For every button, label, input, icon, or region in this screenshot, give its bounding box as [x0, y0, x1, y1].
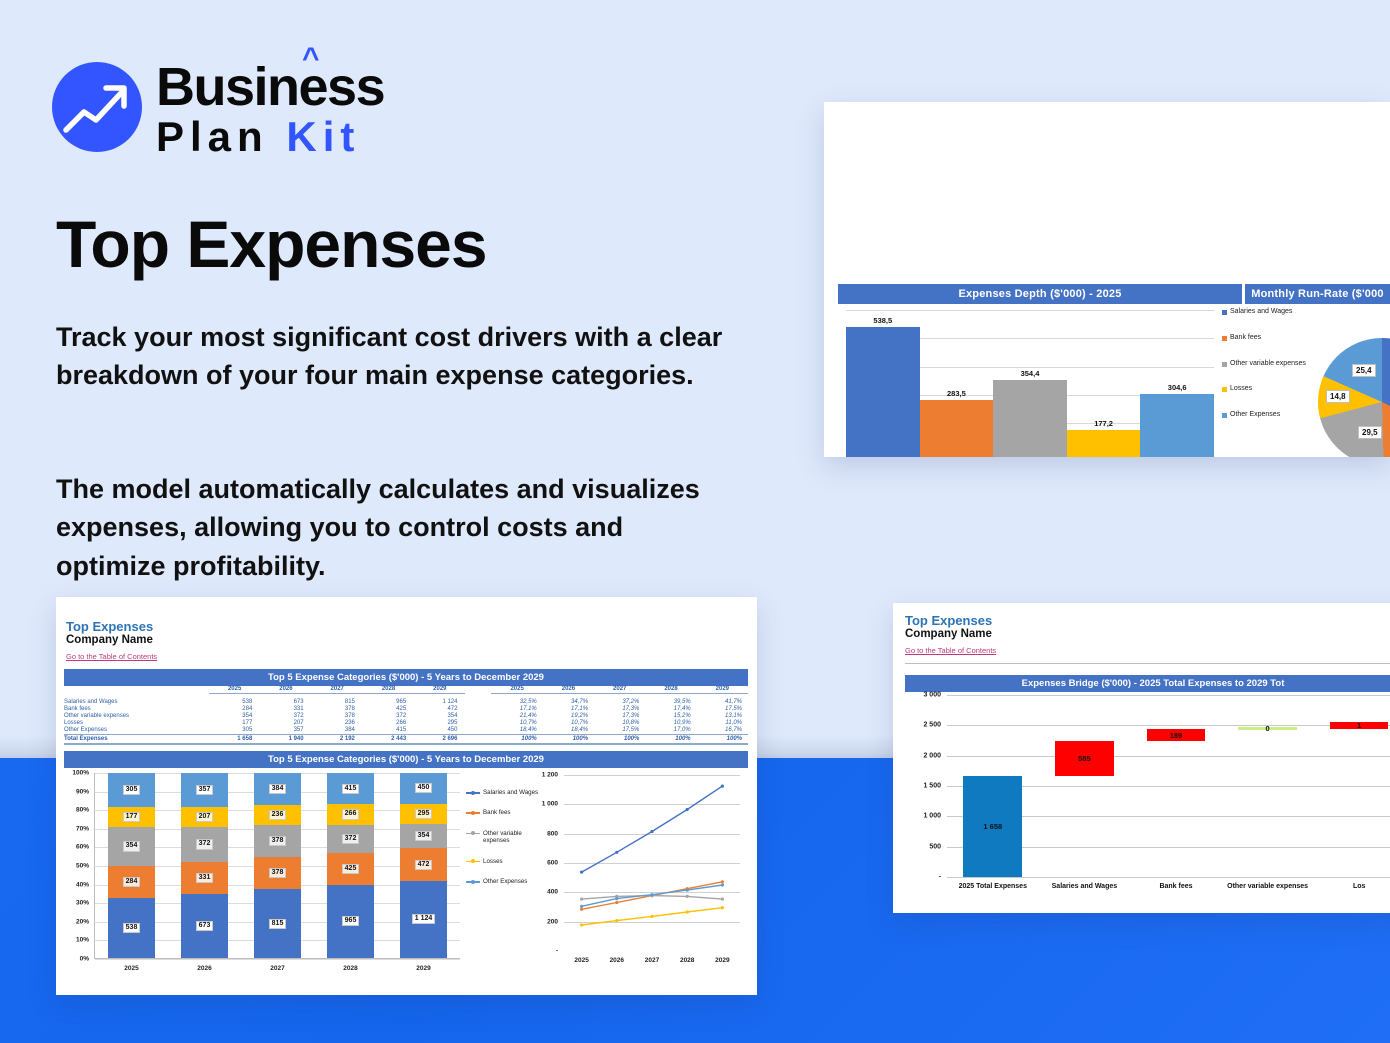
- bar-column: 354,4: [993, 380, 1067, 457]
- stack-segment-label: 425: [342, 864, 360, 874]
- line-point: [686, 895, 689, 898]
- table-cell-pct: 10,7%: [491, 720, 542, 727]
- x-axis-label: 2028: [680, 957, 694, 964]
- table-of-contents-link[interactable]: Go to the Table of Contents: [66, 652, 157, 661]
- table-cell-value: 1 124: [414, 698, 465, 705]
- worksheet-header-right: Top Expenses Company Name Go to the Tabl…: [905, 613, 996, 658]
- line-point: [650, 830, 653, 833]
- y-axis-label: 500: [929, 843, 941, 850]
- table-cell-pct: 21,4%: [491, 712, 542, 719]
- stack-segment: 354: [400, 824, 447, 848]
- y-axis-label: -: [556, 948, 558, 955]
- line-chart-plot: 20252026202720282029: [564, 775, 740, 951]
- table-cell-pct: 17,3%: [594, 712, 645, 719]
- legend-label: Losses: [483, 858, 503, 865]
- table-cell-pct: 10,8%: [594, 720, 645, 727]
- y-axis-label: 60%: [76, 844, 89, 851]
- line-series-group: [564, 775, 740, 951]
- x-axis-label: Other variable expenses: [1222, 883, 1314, 890]
- legend-item: Other variable expenses: [466, 830, 540, 845]
- y-axis-label: 1 500: [923, 783, 941, 790]
- legend-item: Bank fees: [1222, 334, 1312, 343]
- table-row: Salaries and Wages5386738159651 12432,5%…: [64, 698, 748, 705]
- table-cell-pct: 11,0%: [697, 720, 748, 727]
- line-point: [580, 871, 583, 874]
- table-header-row: 2025202620272028202920252026202720282029: [64, 685, 748, 693]
- table-cell-value: 295: [414, 720, 465, 727]
- stacked-chart-plot: 3051773542845382025357207372331673202638…: [94, 773, 460, 959]
- stack-segment-label: 1 124: [412, 914, 436, 924]
- table-cell-pct: 100%: [594, 735, 645, 744]
- y-axis-label: 100%: [72, 770, 89, 777]
- legend-item: Salaries and Wages: [466, 789, 540, 796]
- stacked-column: 4502953544721 1242029: [387, 773, 460, 958]
- y-axis-label: 400: [547, 889, 558, 896]
- line-point: [650, 893, 653, 896]
- bar: [1140, 394, 1214, 457]
- stack-segment-label: 372: [342, 834, 360, 844]
- y-axis-label: 1 000: [923, 813, 941, 820]
- y-axis-label: -: [939, 874, 941, 881]
- table-cell-value: 177: [209, 720, 260, 727]
- x-axis-label: 2027: [241, 965, 314, 972]
- line-point: [721, 898, 724, 901]
- stack-segment-label: 384: [269, 784, 287, 794]
- table-cell-pct: 17,1%: [543, 705, 594, 712]
- table-cell-value: 1 658: [209, 735, 260, 744]
- line-point: [580, 923, 583, 926]
- legend-swatch: [1222, 336, 1227, 341]
- stack-segment-label: 331: [196, 873, 214, 883]
- stack-segment: 284: [108, 866, 155, 898]
- gridline: [95, 959, 460, 960]
- table-year-header: 2029: [414, 685, 465, 693]
- worksheet-title-right: Top Expenses: [905, 613, 996, 628]
- bar-column: 304,6: [1140, 394, 1214, 457]
- table-cell-pct: 16,7%: [697, 727, 748, 735]
- table-cell-pct: 19,2%: [543, 712, 594, 719]
- table-row-label: Other variable expenses: [64, 712, 209, 719]
- table-cell-pct: 32,5%: [491, 698, 542, 705]
- table-cell-value: 372: [363, 712, 414, 719]
- stack-segment-label: 236: [269, 810, 287, 820]
- line-point: [580, 908, 583, 911]
- expense-table: 2025202620272028202920252026202720282029…: [64, 685, 748, 745]
- stack-segment: 472: [400, 848, 447, 880]
- waterfall-bar: 585: [1055, 741, 1114, 776]
- waterfall-bar: 1: [1330, 722, 1389, 729]
- stack-segment-label: 354: [415, 831, 433, 841]
- legend-item: Other variable expenses: [1222, 360, 1312, 369]
- stack-segment-label: 415: [342, 784, 360, 794]
- stack-segment: 295: [400, 804, 447, 824]
- legend-marker: [466, 790, 480, 796]
- x-axis-label: 2026: [610, 957, 624, 964]
- page-title: Top Expenses: [56, 206, 487, 282]
- line-point: [615, 851, 618, 854]
- table-cell-pct: 13,1%: [697, 712, 748, 719]
- table-cell-pct: 34,7%: [543, 698, 594, 705]
- monthly-run-rate-pie-chart: 25,414,829,523,6: [1318, 338, 1390, 457]
- top-panel-chart-titles: Expenses Depth ($'000) - 2025 Monthly Ru…: [838, 284, 1390, 304]
- worksheet-company-name: Company Name: [66, 634, 157, 646]
- brand-name-line1: Business ^: [156, 60, 384, 114]
- legend-item: Salaries and Wages: [1222, 308, 1312, 317]
- line-point: [615, 919, 618, 922]
- table-cell-value: 2 443: [363, 735, 414, 744]
- table-row-label: Total Expenses: [64, 735, 209, 744]
- table-cell-value: 425: [363, 705, 414, 712]
- table-cell-value: 965: [363, 698, 414, 705]
- y-axis-label: 80%: [76, 807, 89, 814]
- y-axis-label: 1 200: [542, 772, 558, 779]
- legend-swatch: [1222, 310, 1227, 315]
- table-of-contents-link-right[interactable]: Go to the Table of Contents: [905, 646, 996, 655]
- stack-segment-label: 207: [196, 812, 214, 822]
- y-axis-label: 90%: [76, 788, 89, 795]
- line-point: [615, 897, 618, 900]
- legend-marker: [466, 810, 480, 816]
- table-cell-value: 472: [414, 705, 465, 712]
- y-axis-label: 1 000: [542, 801, 558, 808]
- y-axis-label: 600: [547, 860, 558, 867]
- legend-item: Bank fees: [466, 809, 540, 816]
- bar-column: 538,5: [846, 327, 920, 457]
- table-cell-value: 1 940: [260, 735, 311, 744]
- stacked-column: 3051773542845382025: [95, 773, 168, 958]
- stack-segment: 331: [181, 862, 228, 894]
- line-point: [721, 880, 724, 883]
- table-year-header: 2027: [312, 685, 363, 693]
- line-point: [615, 901, 618, 904]
- stack-segment-label: 538: [123, 923, 141, 933]
- line-point: [721, 785, 724, 788]
- bottom-left-charts: 100%90%80%70%60%50%40%30%20%10%0% 305177…: [64, 769, 748, 985]
- y-axis-label: 30%: [76, 900, 89, 907]
- x-axis-label: Los: [1313, 883, 1390, 890]
- stack-segment: 1 124: [400, 881, 447, 958]
- table-cell-value: 2 192: [312, 735, 363, 744]
- stack-segment-label: 354: [123, 841, 141, 851]
- stack-segment-label: 266: [342, 809, 360, 819]
- line-series: [582, 786, 723, 872]
- brand-name-line1-text: Business: [156, 57, 384, 117]
- stacked-bar-chart: 100%90%80%70%60%50%40%30%20%10%0% 305177…: [64, 769, 464, 985]
- y-axis-label: 2 500: [923, 722, 941, 729]
- monthly-run-rate-chart-title: Monthly Run-Rate ($'000: [1245, 284, 1390, 304]
- worksheet-header-left: Top Expenses Company Name Go to the Tabl…: [66, 619, 157, 664]
- legend-swatch: [1222, 413, 1227, 418]
- table-cell-pct: 17,3%: [594, 705, 645, 712]
- line-point: [686, 889, 689, 892]
- table-year-header-pct: 2026: [543, 685, 594, 693]
- stack-segment-label: 673: [196, 921, 214, 931]
- table-cell-pct: 15,2%: [645, 712, 696, 719]
- table-row-label: Bank fees: [64, 705, 209, 712]
- table-cell-value: 354: [209, 712, 260, 719]
- table-cell-pct: 100%: [543, 735, 594, 744]
- table-year-header: 2028: [363, 685, 414, 693]
- expense-table-grid: 2025202620272028202920252026202720282029…: [64, 685, 748, 745]
- expenses-bridge-waterfall-chart: 3 0002 5002 0001 5001 000500- 1 6582025 …: [905, 695, 1390, 895]
- gridline: [947, 877, 1390, 878]
- table-cell-value: 331: [260, 705, 311, 712]
- legend-item: Other Expenses: [466, 878, 540, 885]
- x-axis-label: 2027: [645, 957, 659, 964]
- legend-label: Other variable expenses: [1230, 360, 1306, 369]
- stacked-column: 3572073723316732026: [168, 773, 241, 958]
- stack-segment: 815: [254, 889, 301, 958]
- stacked-chart-y-axis: 100%90%80%70%60%50%40%30%20%10%0%: [64, 773, 92, 959]
- bar-value-label: 177,2: [1067, 419, 1141, 428]
- table-cell-pct: 18,4%: [543, 727, 594, 735]
- line-point: [721, 906, 724, 909]
- table-cell-value: 354: [414, 712, 465, 719]
- waterfall-plot: 1 6582025 Total Expenses585Salaries and …: [947, 695, 1390, 877]
- bar-column: 177,2: [1067, 430, 1141, 457]
- waterfall-column: 1Los: [1313, 695, 1390, 877]
- header-divider: [905, 663, 1390, 664]
- expense-table-title: Top 5 Expense Categories ($'000) - 5 Yea…: [64, 669, 748, 686]
- waterfall-bar: 189: [1147, 729, 1206, 740]
- table-cell-pct: 17,5%: [697, 705, 748, 712]
- table-year-header: 2026: [260, 685, 311, 693]
- table-total-row: Total Expenses1 6581 9402 1922 4432 6961…: [64, 735, 748, 744]
- table-year-header-pct: 2025: [491, 685, 542, 693]
- legend-label: Salaries and Wages: [1230, 308, 1292, 317]
- x-axis-label: 2028: [314, 965, 387, 972]
- expense-chart-title: Top 5 Expense Categories ($'000) - 5 Yea…: [64, 751, 748, 768]
- line-point: [686, 910, 689, 913]
- table-cell-pct: 100%: [697, 735, 748, 744]
- hero-paragraph-1: Track your most significant cost drivers…: [56, 318, 736, 395]
- y-axis-label: 2 000: [923, 752, 941, 759]
- table-row: Losses17720723626629510,7%10,7%10,8%10,9…: [64, 720, 748, 727]
- table-row: Other variable expenses35437237837235421…: [64, 712, 748, 719]
- waterfall-y-axis: 3 0002 5002 0001 5001 000500-: [905, 695, 945, 877]
- legend-label: Bank fees: [483, 809, 511, 816]
- x-axis-label: Bank fees: [1130, 883, 1222, 890]
- legend-item: Losses: [466, 858, 540, 865]
- legend-marker: [466, 879, 480, 885]
- stack-segment: 372: [181, 827, 228, 862]
- hero-paragraph-2: The model automatically calculates and v…: [56, 470, 736, 585]
- brand-logo: Business ^ Plan Kit: [52, 56, 384, 158]
- x-axis-label: 2026: [168, 965, 241, 972]
- table-cell-pct: 41,7%: [697, 698, 748, 705]
- y-axis-label: 0%: [80, 956, 89, 963]
- waterfall-bar: 1 658: [963, 776, 1022, 877]
- legend-label: Other Expenses: [483, 878, 527, 885]
- table-cell-pct: 17,0%: [645, 727, 696, 735]
- stack-segment: 538: [108, 898, 155, 958]
- brand-name-kit: Kit: [286, 113, 360, 160]
- waterfall-bar: 0: [1238, 727, 1297, 730]
- x-axis-label: 2025: [574, 957, 588, 964]
- stack-segment: 673: [181, 894, 228, 958]
- stack-segment: 372: [327, 825, 374, 853]
- line-point: [580, 905, 583, 908]
- x-axis-label: Salaries and Wages: [1039, 883, 1131, 890]
- bar: [846, 327, 920, 457]
- expenses-bridge-chart-title: Expenses Bridge ($'000) - 2025 Total Exp…: [905, 675, 1390, 692]
- table-row-label: Losses: [64, 720, 209, 727]
- stack-segment: 354: [108, 827, 155, 866]
- table-cell-value: 357: [260, 727, 311, 735]
- brand-caret-icon: ^: [302, 44, 318, 74]
- line-point: [686, 808, 689, 811]
- pie-value-label: 14,8: [1326, 390, 1350, 403]
- panel-top5-expense-categories: Top Expenses Company Name Go to the Tabl…: [56, 597, 757, 995]
- table-cell-value: 284: [209, 705, 260, 712]
- waterfall-column: 189Bank fees: [1130, 695, 1222, 877]
- waterfall-column: 585Salaries and Wages: [1039, 695, 1131, 877]
- legend-label: Losses: [1230, 385, 1252, 394]
- stack-segment: 450: [400, 773, 447, 804]
- stack-segment: 425: [327, 853, 374, 885]
- bar-value-label: 354,4: [993, 369, 1067, 378]
- table-cell-pct: 17,4%: [645, 705, 696, 712]
- waterfall-column: 1 6582025 Total Expenses: [947, 695, 1039, 877]
- stack-segment: 965: [327, 885, 374, 958]
- table-cell-value: 266: [363, 720, 414, 727]
- table-row: Other Expenses30535738441545018,4%18,4%1…: [64, 727, 748, 735]
- stack-segment-label: 378: [269, 868, 287, 878]
- x-axis-label: 2029: [387, 965, 460, 972]
- pie-value-label: 25,4: [1352, 364, 1376, 377]
- stack-segment-label: 305: [123, 785, 141, 795]
- table-cell-pct: 39,5%: [645, 698, 696, 705]
- table-cell-value: 378: [312, 712, 363, 719]
- expense-trend-line-chart: Salaries and WagesBank feesOther variabl…: [464, 769, 748, 985]
- table-cell-pct: 37,2%: [594, 698, 645, 705]
- stack-segment: 236: [254, 805, 301, 825]
- legend-label: Other Expenses: [1230, 411, 1280, 420]
- table-cell-value: 2 696: [414, 735, 465, 744]
- table-cell-value: 378: [312, 705, 363, 712]
- stack-segment-label: 450: [415, 783, 433, 793]
- stack-segment-label: 815: [269, 919, 287, 929]
- stack-segment-label: 372: [196, 839, 214, 849]
- stack-segment-label: 378: [269, 836, 287, 846]
- table-cell-pct: 100%: [645, 735, 696, 744]
- stack-segment-label: 284: [123, 877, 141, 887]
- y-axis-label: 3 000: [923, 692, 941, 699]
- stack-segment: 207: [181, 807, 228, 827]
- table-cell-pct: 18,4%: [491, 727, 542, 735]
- y-axis-label: 200: [547, 918, 558, 925]
- table-cell-value: 207: [260, 720, 311, 727]
- table-cell-pct: 10,9%: [645, 720, 696, 727]
- y-axis-label: 800: [547, 830, 558, 837]
- bar: [1067, 430, 1141, 457]
- table-row-label: Other Expenses: [64, 727, 209, 735]
- expenses-depth-bar-chart: 538,5283,5354,4177,2304,6: [846, 310, 1214, 457]
- legend-item: Losses: [1222, 385, 1312, 394]
- table-row-label: Salaries and Wages: [64, 698, 209, 705]
- table-year-header-pct: 2029: [697, 685, 748, 693]
- legend-item: Other Expenses: [1222, 411, 1312, 420]
- panel-expenses-depth: Expenses Depth ($'000) - 2025 Monthly Ru…: [824, 102, 1390, 457]
- stacked-column: 3842363783788152027: [241, 773, 314, 958]
- worksheet-title: Top Expenses: [66, 619, 157, 634]
- expenses-depth-chart-title: Expenses Depth ($'000) - 2025: [838, 284, 1242, 304]
- y-axis-label: 70%: [76, 825, 89, 832]
- table-cell-pct: 17,5%: [594, 727, 645, 735]
- y-axis-label: 50%: [76, 863, 89, 870]
- stack-segment: 305: [108, 773, 155, 807]
- table-cell-value: 372: [260, 712, 311, 719]
- bar-column: 283,5: [920, 400, 994, 457]
- brand-name-line2: Plan Kit: [156, 116, 384, 158]
- table-cell-value: 236: [312, 720, 363, 727]
- table-year-header: 2025: [209, 685, 260, 693]
- legend-label: Bank fees: [1230, 334, 1261, 343]
- stack-segment: 177: [108, 807, 155, 827]
- stack-segment-label: 472: [415, 860, 433, 870]
- stack-segment: 384: [254, 773, 301, 805]
- legend-swatch: [1222, 362, 1227, 367]
- table-cell-value: 415: [363, 727, 414, 735]
- line-point: [580, 898, 583, 901]
- x-axis-label: 2025: [95, 965, 168, 972]
- line-chart-legend: Salaries and WagesBank feesOther variabl…: [466, 789, 540, 899]
- table-cell-value: 673: [260, 698, 311, 705]
- table-cell-value: 384: [312, 727, 363, 735]
- y-axis-label: 10%: [76, 937, 89, 944]
- stacked-column: 4152663724259652028: [314, 773, 387, 958]
- stack-segment-label: 177: [123, 812, 141, 822]
- stack-segment: 266: [327, 804, 374, 824]
- bar: [920, 400, 994, 457]
- stack-segment: 415: [327, 773, 374, 804]
- bar-value-label: 283,5: [920, 389, 994, 398]
- table-cell-pct: 17,1%: [491, 705, 542, 712]
- legend-marker: [466, 859, 480, 865]
- line-point: [650, 915, 653, 918]
- x-axis-label: 2029: [715, 957, 729, 964]
- expenses-depth-legend: Salaries and WagesBank feesOther variabl…: [1222, 308, 1312, 437]
- table-year-header-pct: 2027: [594, 685, 645, 693]
- stack-segment: 378: [254, 857, 301, 889]
- stack-segment-label: 965: [342, 916, 360, 926]
- line-chart-y-axis: 1 2001 000800600400200-: [536, 775, 562, 951]
- growth-arrow-icon: [52, 62, 142, 152]
- legend-label: Salaries and Wages: [483, 789, 538, 796]
- table-cell-pct: 10,7%: [543, 720, 594, 727]
- table-row: Bank fees28433137842547217,1%17,1%17,3%1…: [64, 705, 748, 712]
- bar: [993, 380, 1067, 457]
- waterfall-column: 0Other variable expenses: [1222, 695, 1314, 877]
- y-axis-label: 40%: [76, 881, 89, 888]
- pie-value-label: 29,5: [1358, 426, 1382, 439]
- legend-swatch: [1222, 387, 1227, 392]
- bar-value-label: 538,5: [846, 316, 920, 325]
- legend-marker: [466, 831, 480, 837]
- stack-segment: 378: [254, 825, 301, 857]
- panel-expenses-bridge: Top Expenses Company Name Go to the Tabl…: [893, 603, 1390, 913]
- table-cell-value: 815: [312, 698, 363, 705]
- line-point: [721, 883, 724, 886]
- table-cell-value: 305: [209, 727, 260, 735]
- table-cell-pct: 100%: [491, 735, 542, 744]
- y-axis-label: 20%: [76, 918, 89, 925]
- stack-segment-label: 357: [196, 785, 214, 795]
- stacked-chart-columns: 3051773542845382025357207372331673202638…: [95, 773, 460, 958]
- stack-segment-label: 295: [415, 809, 433, 819]
- bar-value-label: 304,6: [1140, 383, 1214, 392]
- table-cell-value: 450: [414, 727, 465, 735]
